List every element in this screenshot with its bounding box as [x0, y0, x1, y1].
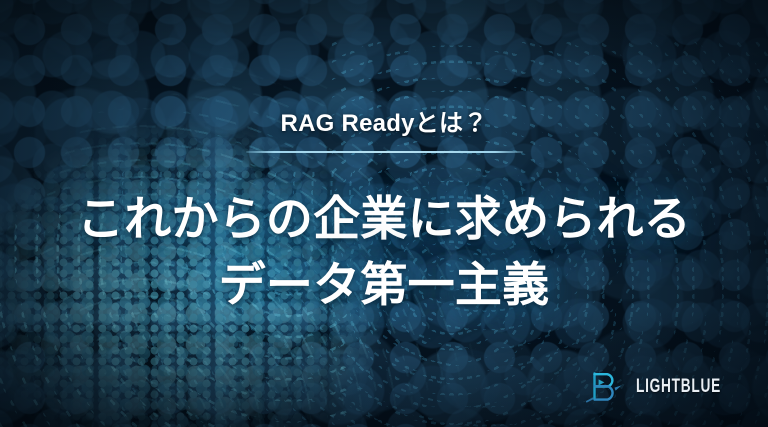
slide-eyebrow: RAG Readyとは？ — [0, 103, 768, 138]
headline-line-2: データ第一主義 — [0, 252, 768, 318]
eyebrow-divider-rule — [246, 151, 523, 153]
slide-content: RAG Readyとは？ これからの企業に求められる データ第一主義 — [0, 0, 768, 427]
presentation-slide: RAG Readyとは？ これからの企業に求められる データ第一主義 — [0, 0, 768, 427]
slide-headline: これからの企業に求められる データ第一主義 — [0, 186, 768, 318]
lightblue-b-mark-icon — [581, 363, 627, 409]
logo-wordmark: LIGHTBLUE — [636, 377, 721, 396]
brand-logo: LIGHTBLUE — [581, 363, 754, 409]
headline-line-1: これからの企業に求められる — [0, 186, 768, 252]
